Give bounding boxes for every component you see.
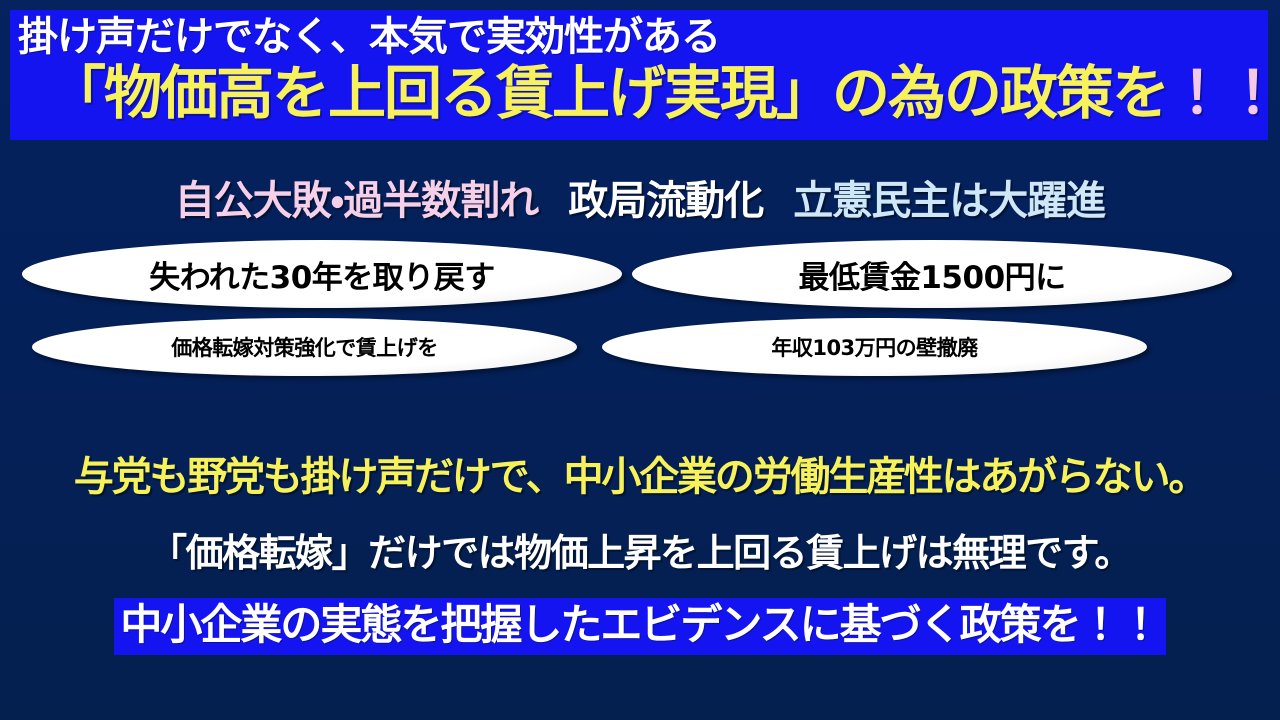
body-statement-evidence-policy: 中小企業の実態を把握したエビデンスに基づく政策を！！ [114, 598, 1165, 655]
callout-text: 失われた30年を取り戻す [149, 252, 495, 297]
callout-text: 年収103万円の壁撤廃 [771, 332, 977, 362]
body-conclusion-row: 中小企業の実態を把握したエビデンスに基づく政策を！！ [0, 598, 1280, 655]
header-title-exclamation: ！！ [1168, 59, 1280, 127]
callout-text: 最低賃金1500円に [798, 252, 1065, 297]
callout-ellipse-lost-30-years: 失われた30年を取り戻す [22, 240, 622, 308]
callout-ellipse-income-wall: 年収103万円の壁撤廃 [602, 318, 1147, 376]
header-banner: 掛け声だけでなく、本気で実効性がある 「物価高を上回る賃上げ実現」の為の政策を！… [10, 10, 1268, 140]
header-subtitle: 掛け声だけでなく、本気で実効性がある [18, 16, 720, 58]
subheadline-row: 自公大敗・過半数割れ 政局流動化 立憲民主は大躍進 [0, 168, 1280, 226]
callout-ellipse-minimum-wage: 最低賃金1500円に [632, 240, 1232, 308]
callout-text: 価格転嫁対策強化で賃上げを [171, 332, 438, 362]
header-title: 「物価高を上回る賃上げ実現」の為の政策を！！ [48, 62, 1280, 125]
subheadline-political-fluidity: 政局流動化 [568, 168, 763, 226]
body-statement-price-passthrough: 「価格転嫁」だけでは物価上昇を上回る賃上げは無理です。 [0, 522, 1280, 577]
subheadline-ruling-coalition-defeat: 自公大敗・過半数割れ [175, 168, 539, 226]
callout-ellipse-price-passthrough: 価格転嫁対策強化で賃上げを [32, 318, 577, 376]
header-title-text: 「物価高を上回る賃上げ実現」の為の政策を [48, 59, 1168, 127]
body-statement-productivity: 与党も野党も掛け声だけで、中小企業の労働生産性はあがらない。 [0, 444, 1280, 502]
slide-canvas: 掛け声だけでなく、本気で実効性がある 「物価高を上回る賃上げ実現」の為の政策を！… [0, 0, 1280, 720]
subheadline-cdp-advance: 立憲民主は大躍進 [793, 168, 1105, 226]
